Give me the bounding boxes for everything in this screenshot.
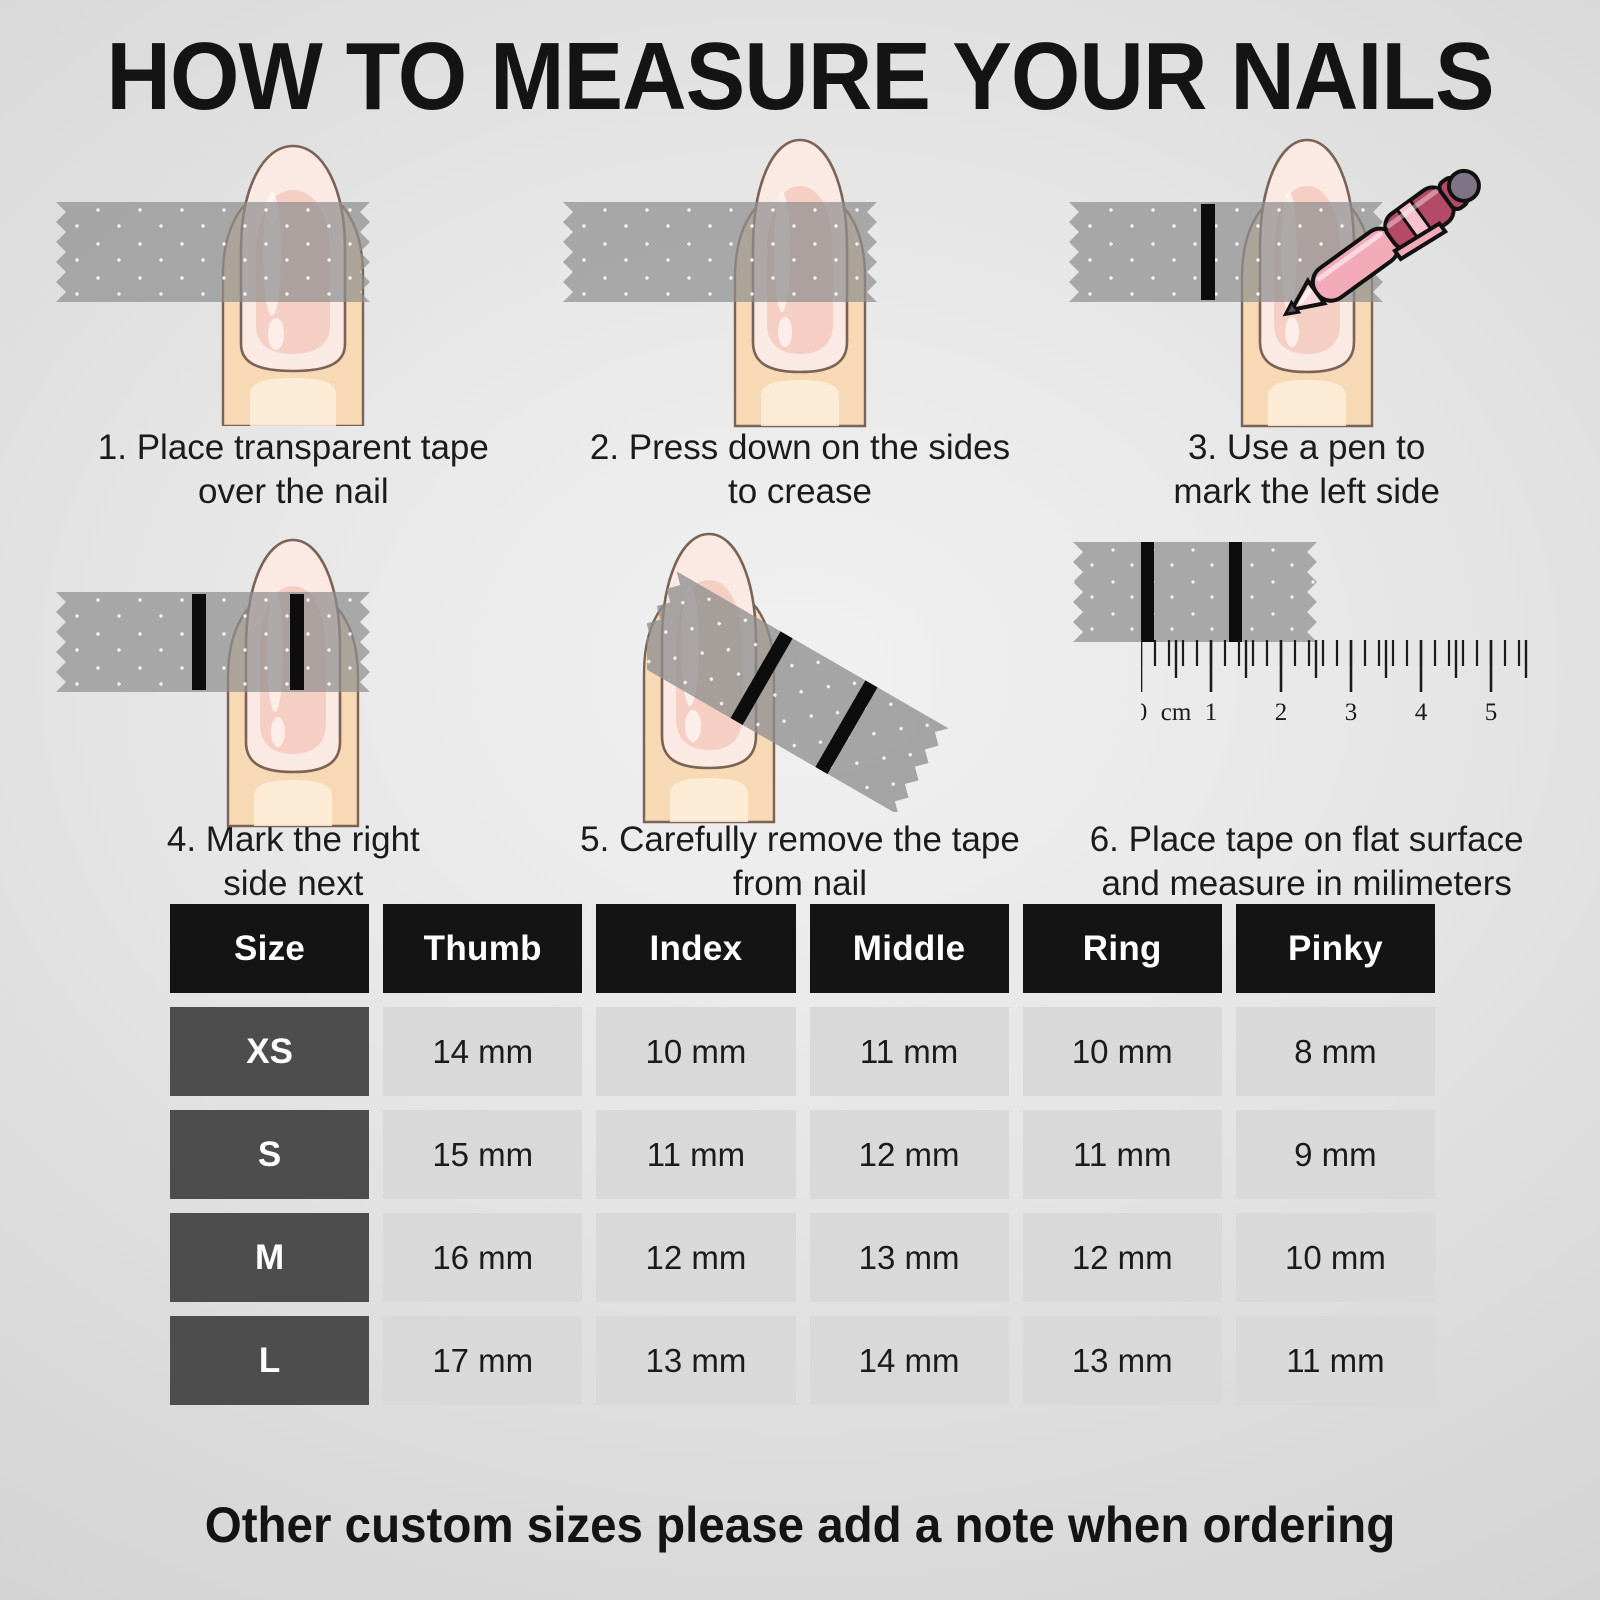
table-header-middle: Middle <box>810 904 1009 993</box>
cell-xs-index: 10 mm <box>596 1007 795 1096</box>
cell-m-pinky: 10 mm <box>1236 1213 1435 1302</box>
cell-m-ring: 12 mm <box>1023 1213 1222 1302</box>
table-header-thumb: Thumb <box>383 904 582 993</box>
left-mark-icon <box>192 594 206 690</box>
cell-s-middle: 12 mm <box>810 1110 1009 1199</box>
cell-m-thumb: 16 mm <box>383 1213 582 1302</box>
step-3-illustration <box>1053 126 1560 416</box>
cell-xs-thumb: 14 mm <box>383 1007 582 1096</box>
step-2: 2. Press down on the sidesto crease <box>547 126 1054 514</box>
ruler-label-3: 3 <box>1345 699 1358 726</box>
ruler-label-4: 4 <box>1415 699 1428 726</box>
table-header-pinky: Pinky <box>1236 904 1435 993</box>
cell-xs-ring: 10 mm <box>1023 1007 1222 1096</box>
tape-on-ruler-icon <box>1065 542 1325 642</box>
cell-s-thumb: 15 mm <box>383 1110 582 1199</box>
table-header-row: Size Thumb Index Middle Ring Pinky <box>170 904 1435 993</box>
table-header-index: Index <box>596 904 795 993</box>
step-3-caption: 3. Use a pen tomark the left side <box>1053 426 1560 514</box>
step-6-illustration: 0 cm 1 2 3 4 5 <box>1053 514 1560 814</box>
step-2-caption: 2. Press down on the sidesto crease <box>547 426 1054 514</box>
cell-xs-middle: 11 mm <box>810 1007 1009 1096</box>
page-title: HOW TO MEASURE YOUR NAILS <box>56 22 1544 132</box>
size-label-xs: XS <box>170 1007 369 1096</box>
ruler-label-0: 0 <box>1141 699 1147 726</box>
transparent-tape-icon <box>555 202 885 302</box>
cell-s-ring: 11 mm <box>1023 1110 1222 1199</box>
step-2-illustration <box>547 126 1054 416</box>
ruler-label-1: 1 <box>1205 699 1218 726</box>
footer-note: Other custom sizes please add a note whe… <box>40 1496 1560 1554</box>
step-5-illustration <box>547 514 1054 814</box>
step-5-caption: 5. Carefully remove the tapefrom nail <box>547 818 1054 906</box>
table-row: L 17 mm 13 mm 14 mm 13 mm 11 mm <box>170 1316 1435 1405</box>
size-chart-table: Size Thumb Index Middle Ring Pinky XS 14… <box>170 904 1435 1419</box>
step-6-caption: 6. Place tape on flat surfaceand measure… <box>1053 818 1560 906</box>
step-3: 3. Use a pen tomark the left side <box>1053 126 1560 514</box>
ruler-label-2: 2 <box>1275 699 1288 726</box>
size-label-s: S <box>170 1110 369 1199</box>
step-5: 5. Carefully remove the tapefrom nail <box>547 514 1054 906</box>
size-label-m: M <box>170 1213 369 1302</box>
ruler-icon: 0 cm 1 2 3 4 5 <box>1141 640 1541 730</box>
ruler-label-5: 5 <box>1485 699 1498 726</box>
table-row: S 15 mm 11 mm 12 mm 11 mm 9 mm <box>170 1110 1435 1199</box>
cell-s-index: 11 mm <box>596 1110 795 1199</box>
step-1-illustration <box>40 126 547 416</box>
table-header-size: Size <box>170 904 369 993</box>
step-1-caption: 1. Place transparent tapeover the nail <box>40 426 547 514</box>
peeled-tape-icon <box>647 572 1007 812</box>
steps-grid: 1. Place transparent tapeover the nail <box>40 126 1560 906</box>
cell-l-ring: 13 mm <box>1023 1316 1222 1405</box>
transparent-tape-icon <box>48 202 378 302</box>
table-row: M 16 mm 12 mm 13 mm 12 mm 10 mm <box>170 1213 1435 1302</box>
cell-l-middle: 14 mm <box>810 1316 1009 1405</box>
cell-xs-pinky: 8 mm <box>1236 1007 1435 1096</box>
table-row: XS 14 mm 10 mm 11 mm 10 mm 8 mm <box>170 1007 1435 1096</box>
infographic-page: HOW TO MEASURE YOUR NAILS <box>0 0 1600 1600</box>
cell-m-index: 12 mm <box>596 1213 795 1302</box>
table-header-ring: Ring <box>1023 904 1222 993</box>
step-4-caption: 4. Mark the rightside next <box>40 818 547 906</box>
transparent-tape-icon <box>48 592 378 692</box>
cell-s-pinky: 9 mm <box>1236 1110 1435 1199</box>
step-6: 0 cm 1 2 3 4 5 6. Place tape on flat sur… <box>1053 514 1560 906</box>
right-mark-icon <box>290 594 304 690</box>
ruler-unit-label: cm <box>1161 699 1192 726</box>
size-label-l: L <box>170 1316 369 1405</box>
step-4: 4. Mark the rightside next <box>40 514 547 906</box>
cell-l-pinky: 11 mm <box>1236 1316 1435 1405</box>
pen-icon <box>1193 118 1523 338</box>
step-1: 1. Place transparent tapeover the nail <box>40 126 547 514</box>
cell-m-middle: 13 mm <box>810 1213 1009 1302</box>
ruler-tick-labels: 0 cm 1 2 3 4 5 <box>1141 699 1497 726</box>
step-4-illustration <box>40 514 547 814</box>
cell-l-thumb: 17 mm <box>383 1316 582 1405</box>
cell-l-index: 13 mm <box>596 1316 795 1405</box>
